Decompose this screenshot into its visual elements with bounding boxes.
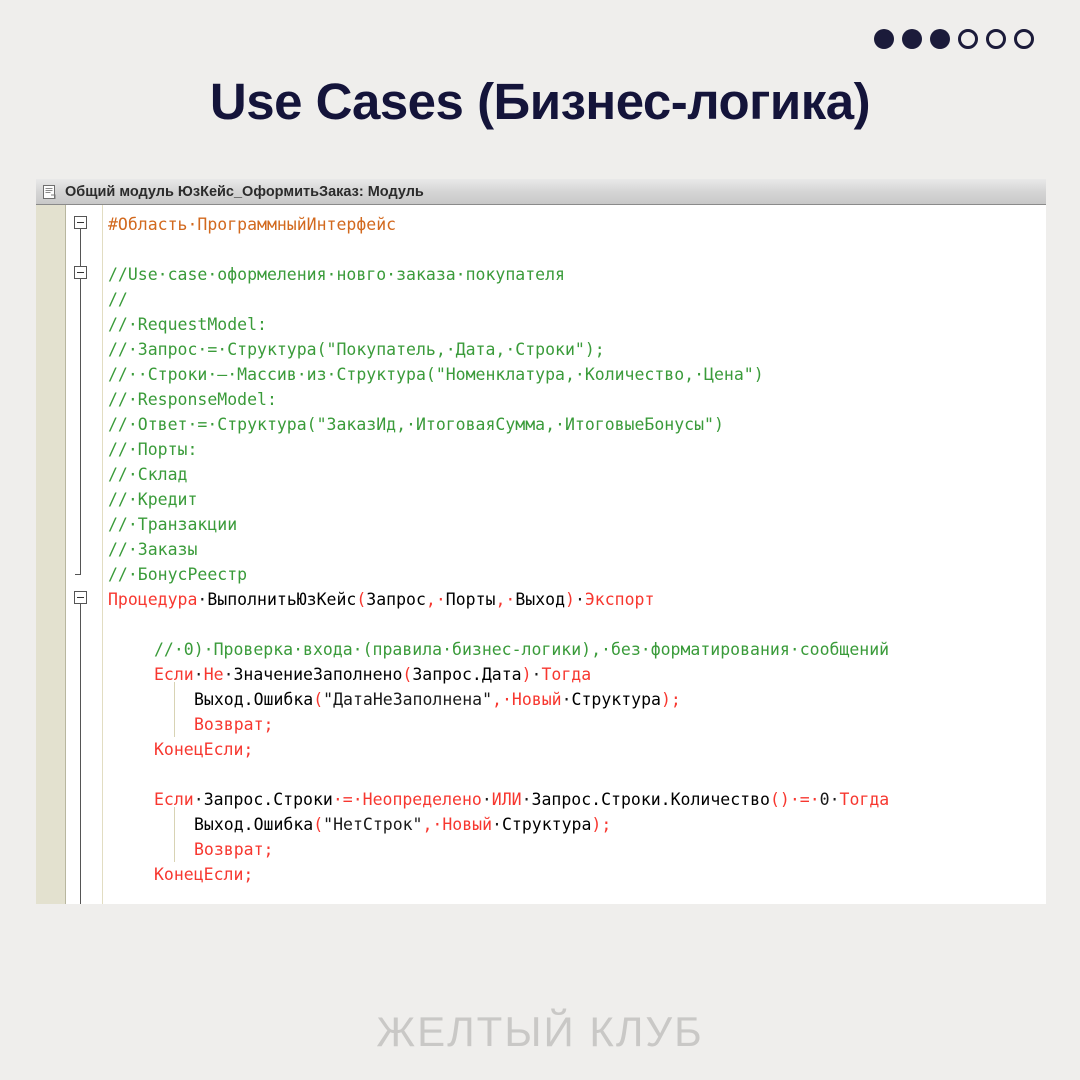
code-line[interactable]: //·Запрос·=·Структура("Покупатель,·Дата,… xyxy=(108,337,605,362)
indent-guide xyxy=(174,682,175,737)
code-token-identifier: Структура xyxy=(502,815,591,834)
code-token-identifier: Запрос.Строки.Количество xyxy=(532,790,770,809)
code-line[interactable]: #Область·ПрограммныйИнтерфейс xyxy=(108,212,396,237)
code-line[interactable]: //·Склад xyxy=(108,462,187,487)
code-token-comment: //·Склад xyxy=(108,465,187,484)
code-line[interactable]: //·ResponseModel: xyxy=(108,387,277,412)
code-token-identifier: Запрос xyxy=(366,590,426,609)
code-token-comment: //·0)·Проверка·входа·(правила·бизнес-лог… xyxy=(154,640,889,659)
window-titlebar: Общий модуль ЮзКейс_ОформитьЗаказ: Модул… xyxy=(36,179,1046,205)
code-token-keyword: Неопределено xyxy=(363,790,482,809)
editor-fold-column[interactable] xyxy=(66,205,102,904)
fold-connector-line xyxy=(80,279,81,574)
editor-body: #Область·ПрограммныйИнтерфейс//Use·case·… xyxy=(36,205,1046,904)
code-line[interactable]: Процедура·ВыполнитьЮзКейс(Запрос,·Порты,… xyxy=(108,587,654,612)
fold-end-tick xyxy=(75,574,81,575)
code-line[interactable]: Возврат; xyxy=(194,712,273,737)
code-token-plain: · xyxy=(562,690,572,709)
code-token-plain: · xyxy=(224,665,234,684)
editor-breakpoint-margin[interactable] xyxy=(36,205,66,904)
code-token-keyword: ); xyxy=(591,815,611,834)
code-line[interactable]: //·Кредит xyxy=(108,487,197,512)
code-line[interactable]: //Use·case·оформеления·новго·заказа·поку… xyxy=(108,262,565,287)
code-token-keyword: ·=· xyxy=(333,790,363,809)
code-token-comment: //·RequestModel: xyxy=(108,315,267,334)
pagination-dot-4[interactable] xyxy=(958,29,978,49)
pagination-dot-6[interactable] xyxy=(1014,29,1034,49)
code-token-keyword: КонецЕсли; xyxy=(154,865,253,884)
code-line[interactable]: Выход.Ошибка("НетСтрок",·Новый·Структура… xyxy=(194,812,611,837)
code-token-comment: //·ResponseModel: xyxy=(108,390,277,409)
code-line[interactable]: Если·Не·ЗначениеЗаполнено(Запрос.Дата)·Т… xyxy=(154,662,591,687)
code-token-num: 0 xyxy=(820,790,830,809)
code-token-keyword: Экспорт xyxy=(585,590,655,609)
code-token-comment: //··Строки·—·Массив·из·Структура("Номенк… xyxy=(108,365,764,384)
code-token-identifier: Запрос.Строки xyxy=(204,790,333,809)
code-token-keyword: ) xyxy=(522,665,532,684)
code-line[interactable]: КонецЕсли; xyxy=(154,862,253,887)
code-token-plain: · xyxy=(575,590,585,609)
indent-guide xyxy=(174,807,175,862)
code-token-region: #Область·ПрограммныйИнтерфейс xyxy=(108,215,396,234)
page-title: Use Cases (Бизнес-логика) xyxy=(0,72,1080,131)
code-token-plain: · xyxy=(830,790,840,809)
brand-watermark: ЖЕЛТЫЙ КЛУБ xyxy=(0,1008,1080,1056)
code-token-plain: · xyxy=(522,790,532,809)
window-title-text: Общий модуль ЮзКейс_ОформитьЗаказ: Модул… xyxy=(65,184,424,200)
fold-connector-line xyxy=(80,229,81,266)
code-token-plain: · xyxy=(532,665,542,684)
code-token-string: "НетСтрок" xyxy=(323,815,422,834)
code-token-identifier: Структура xyxy=(572,690,661,709)
code-token-keyword: Новый xyxy=(442,815,492,834)
code-token-keyword: ) xyxy=(565,590,575,609)
code-text-area[interactable]: #Область·ПрограммныйИнтерфейс//Use·case·… xyxy=(102,205,1046,904)
code-token-keyword: ,· xyxy=(426,590,446,609)
code-token-plain: · xyxy=(492,815,502,834)
code-token-plain: · xyxy=(482,790,492,809)
code-line[interactable]: // xyxy=(108,287,128,312)
code-line[interactable]: Если·Запрос.Строки·=·Неопределено·ИЛИ·За… xyxy=(154,787,889,812)
module-document-icon xyxy=(42,184,58,200)
code-token-identifier: Запрос.Дата xyxy=(412,665,521,684)
code-token-keyword: Тогда xyxy=(840,790,890,809)
code-token-identifier: Порты xyxy=(446,590,496,609)
code-line[interactable]: Возврат; xyxy=(194,837,273,862)
code-token-keyword: Возврат; xyxy=(194,840,273,859)
code-line[interactable]: Выход.Ошибка("ДатаНеЗаполнена",·Новый·Ст… xyxy=(194,687,681,712)
code-line[interactable]: КонецЕсли; xyxy=(154,737,253,762)
code-editor-window: Общий модуль ЮзКейс_ОформитьЗаказ: Модул… xyxy=(36,179,1046,904)
code-token-identifier: Выход.Ошибка xyxy=(194,815,313,834)
code-token-plain: · xyxy=(194,665,204,684)
code-line[interactable]: //·0)·Проверка·входа·(правила·бизнес-лог… xyxy=(154,637,889,662)
code-token-comment: //·Заказы xyxy=(108,540,197,559)
code-token-comment: //·Кредит xyxy=(108,490,197,509)
code-token-comment: //·БонусРеестр xyxy=(108,565,247,584)
code-token-keyword: ИЛИ xyxy=(492,790,522,809)
code-token-plain: · xyxy=(194,790,204,809)
code-line[interactable]: //·Транзакции xyxy=(108,512,237,537)
pagination-dot-5[interactable] xyxy=(986,29,1006,49)
code-token-identifier: Выход.Ошибка xyxy=(194,690,313,709)
code-line[interactable]: //·Заказы xyxy=(108,537,197,562)
code-token-keyword: () xyxy=(770,790,790,809)
code-token-keyword: Тогда xyxy=(541,665,591,684)
code-left-rule xyxy=(102,205,103,904)
code-token-plain: · xyxy=(197,590,207,609)
pagination-dot-2[interactable] xyxy=(902,29,922,49)
code-token-keyword: Процедура xyxy=(108,590,197,609)
code-token-identifier: ВыполнитьЮзКейс xyxy=(207,590,356,609)
code-token-keyword: ( xyxy=(356,590,366,609)
code-token-keyword: КонецЕсли; xyxy=(154,740,253,759)
code-token-comment: //·Ответ·=·Структура("ЗаказИд,·ИтоговаяС… xyxy=(108,415,724,434)
code-line[interactable]: //··Строки·—·Массив·из·Структура("Номенк… xyxy=(108,362,764,387)
code-token-keyword: ,· xyxy=(492,690,512,709)
fold-toggle-icon[interactable] xyxy=(74,266,87,279)
code-token-keyword: ,· xyxy=(495,590,515,609)
code-token-comment: // xyxy=(108,290,128,309)
code-token-keyword: ( xyxy=(313,690,323,709)
code-line[interactable]: //·Порты: xyxy=(108,437,197,462)
code-token-comment: //·Порты: xyxy=(108,440,197,459)
code-token-keyword: Возврат; xyxy=(194,715,273,734)
code-token-keyword: Не xyxy=(204,665,224,684)
code-line[interactable]: //·RequestModel: xyxy=(108,312,267,337)
code-token-keyword: ,· xyxy=(423,815,443,834)
pagination-dot-3[interactable] xyxy=(930,29,950,49)
code-token-string: "ДатаНеЗаполнена" xyxy=(323,690,492,709)
fold-toggle-icon[interactable] xyxy=(74,591,87,604)
pagination-dots xyxy=(874,29,1034,49)
code-token-keyword: ·=· xyxy=(790,790,820,809)
code-token-keyword: ( xyxy=(402,665,412,684)
code-token-identifier: ЗначениеЗаполнено xyxy=(234,665,403,684)
fold-connector-line xyxy=(80,604,81,904)
code-token-keyword: Новый xyxy=(512,690,562,709)
code-line[interactable]: //·Ответ·=·Структура("ЗаказИд,·ИтоговаяС… xyxy=(108,412,724,437)
pagination-dot-1[interactable] xyxy=(874,29,894,49)
code-token-keyword: ( xyxy=(313,815,323,834)
code-line[interactable]: //·БонусРеестр xyxy=(108,562,247,587)
fold-toggle-icon[interactable] xyxy=(74,216,87,229)
code-token-comment: //·Транзакции xyxy=(108,515,237,534)
code-token-identifier: Выход xyxy=(515,590,565,609)
code-token-keyword: ); xyxy=(661,690,681,709)
code-token-comment: //Use·case·оформеления·новго·заказа·поку… xyxy=(108,265,565,284)
code-token-comment: //·Запрос·=·Структура("Покупатель,·Дата,… xyxy=(108,340,605,359)
